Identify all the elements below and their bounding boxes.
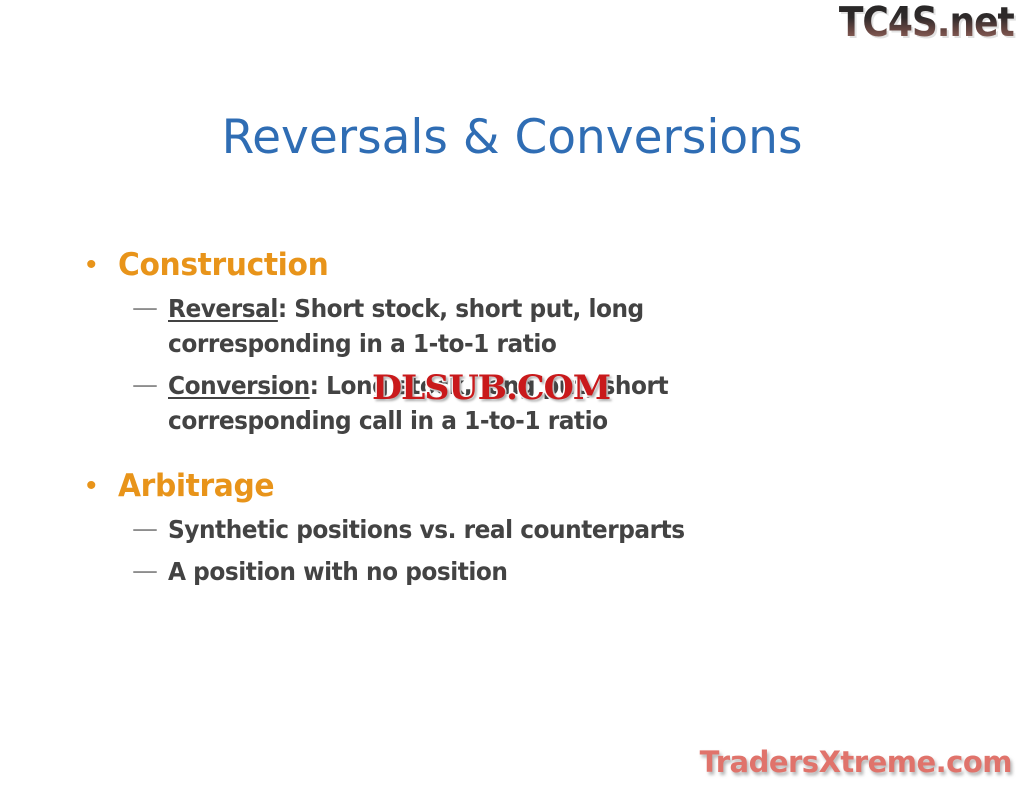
em-dash-marker-icon: — <box>132 291 168 326</box>
bullet-dot-icon: • <box>86 467 118 505</box>
page-title: Reversals & Conversions <box>0 112 1024 164</box>
list-item-lead: Reversal <box>168 294 278 323</box>
list-item-text: A position with no position <box>168 554 508 589</box>
list-item-lead: Conversion <box>168 371 310 400</box>
list-item: — A position with no position <box>132 554 886 589</box>
list-item-rest: A position with no position <box>168 557 508 586</box>
tradersxtreme-logo: TradersXtreme.com <box>700 748 1012 777</box>
section-heading-label: Construction <box>118 246 328 284</box>
section-heading-construction: • Construction <box>86 246 886 284</box>
sub-bullets-construction: — Reversal: Short stock, short put, long… <box>132 291 886 438</box>
em-dash-marker-icon: — <box>132 512 168 547</box>
dlsub-watermark: DLSUB.COM <box>372 371 610 405</box>
list-item: — Reversal: Short stock, short put, long… <box>132 291 886 361</box>
slide-canvas: TC4S.net TC4S.net Reversals & Conversion… <box>0 0 1024 791</box>
bullet-dot-icon: • <box>86 246 118 284</box>
bullet-list: • Construction — Reversal: Short stock, … <box>86 246 886 589</box>
em-dash-marker-icon: — <box>132 368 168 403</box>
em-dash-marker-icon: — <box>132 554 168 589</box>
tc4s-logo: TC4S.net <box>839 2 1014 43</box>
sub-bullets-arbitrage: — Synthetic positions vs. real counterpa… <box>132 512 886 589</box>
section-heading-label: Arbitrage <box>118 467 274 505</box>
list-item: — Synthetic positions vs. real counterpa… <box>132 512 886 547</box>
section-heading-arbitrage: • Arbitrage <box>86 467 886 505</box>
list-item-text: Synthetic positions vs. real counterpart… <box>168 512 685 547</box>
list-item-rest: Synthetic positions vs. real counterpart… <box>168 515 685 544</box>
section-spacer <box>86 438 886 467</box>
list-item-text: Reversal: Short stock, short put, long c… <box>168 291 763 361</box>
